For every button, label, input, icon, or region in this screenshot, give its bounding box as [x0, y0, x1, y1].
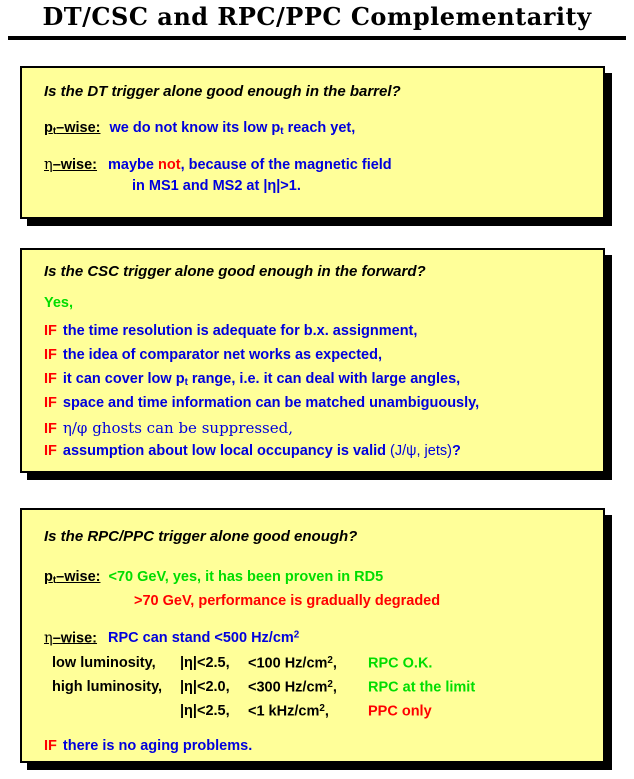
panel-rpc-heading: Is the RPC/PPC trigger alone good enough… — [44, 528, 357, 545]
panel-dt-heading: Is the DT trigger alone good enough in t… — [44, 83, 401, 100]
panel-csc-item-4-text: space and time information can be matche… — [63, 395, 479, 411]
if-label: IF — [44, 347, 57, 363]
panel-dt-eta-text-a: maybe — [108, 157, 158, 173]
row-status: RPC at the limit — [368, 679, 475, 695]
table-row: low luminosity,|η|<2.5,<100 Hz/cm2,RPC O… — [52, 655, 432, 671]
row-rate: <100 Hz/cm2, — [248, 655, 368, 671]
panel-csc-item-5: IFη/φ ghosts can be suppressed, — [44, 419, 293, 437]
eta-wise-label: η–wise: — [44, 630, 97, 646]
panel-csc-item-6: IFassumption about low local occupancy i… — [44, 443, 461, 459]
panel-rpc-eta-row: η–wise:RPC can stand <500 Hz/cm2 — [44, 630, 299, 646]
eta-wise-label: η–wise: — [44, 157, 97, 173]
panel-dt-eta-row-1: η–wise:maybe not, because of the magneti… — [44, 157, 392, 173]
panel-dt-trigger: Is the DT trigger alone good enough in t… — [20, 66, 605, 219]
table-row: high luminosity,|η|<2.0,<300 Hz/cm2,RPC … — [52, 679, 475, 695]
panel-csc-item-2-text: the idea of comparator net works as expe… — [63, 347, 382, 363]
panel-dt-eta-emphasis: not — [158, 157, 181, 173]
title-divider — [8, 36, 626, 40]
row-eta-cut: |η|<2.5, — [180, 655, 248, 671]
panel-csc-trigger: Is the CSC trigger alone good enough in … — [20, 248, 605, 473]
panel-dt-eta-row-2: in MS1 and MS2 at |η|>1. — [132, 178, 301, 194]
row-status: RPC O.K. — [368, 655, 432, 671]
table-row: |η|<2.5,<1 kHz/cm2,PPC only — [52, 703, 432, 719]
panel-dt-pt-text: we do not know its low pt reach yet, — [109, 120, 355, 136]
pt-wise-label: pt–wise: — [44, 120, 100, 136]
row-luminosity: high luminosity, — [52, 679, 180, 695]
row-rate: <1 kHz/cm2, — [248, 703, 368, 719]
panel-csc-item-5-text: η/φ ghosts can be suppressed, — [63, 419, 293, 437]
panel-rpc-pt-line-1: <70 GeV, yes, it has been proven in RD5 — [108, 569, 383, 585]
panel-rpc-eta-line: RPC can stand <500 Hz/cm2 — [108, 630, 299, 646]
if-label: IF — [44, 738, 57, 754]
if-label: IF — [44, 371, 57, 387]
panel-rpc-pt-line-2: >70 GeV, performance is gradually degrad… — [134, 593, 440, 609]
panel-rpc-pt-row-1: pt–wise:<70 GeV, yes, it has been proven… — [44, 569, 383, 586]
panel-rpc-if-text: there is no aging problems. — [63, 738, 252, 754]
panel-csc-item-6-paren: (J/ψ, jets) — [390, 443, 452, 459]
row-eta-cut: |η|<2.0, — [180, 679, 248, 695]
row-status: PPC only — [368, 703, 432, 719]
if-label: IF — [44, 421, 57, 437]
panel-csc-item-2: IFthe idea of comparator net works as ex… — [44, 347, 382, 363]
panel-csc-item-6-qmark: ? — [452, 443, 461, 459]
row-luminosity: low luminosity, — [52, 655, 180, 671]
panel-csc-yes: Yes, — [44, 295, 73, 311]
panel-dt-pt-row: pt–wise:we do not know its low pt reach … — [44, 120, 355, 137]
panel-rpc-ppc-trigger: Is the RPC/PPC trigger alone good enough… — [20, 508, 605, 763]
pt-wise-label: pt–wise: — [44, 569, 100, 585]
if-label: IF — [44, 395, 57, 411]
panel-csc-item-4: IFspace and time information can be matc… — [44, 395, 479, 411]
if-label: IF — [44, 323, 57, 339]
row-rate: <300 Hz/cm2, — [248, 679, 368, 695]
panel-csc-item-3-tail: range, i.e. it can deal with large angle… — [188, 371, 460, 387]
if-label: IF — [44, 443, 57, 459]
panel-csc-item-1: IFthe time resolution is adequate for b.… — [44, 323, 417, 339]
panel-rpc-if-row: IFthere is no aging problems. — [44, 738, 252, 754]
panel-csc-item-6-text: assumption about low local occupancy is … — [63, 443, 390, 459]
panel-csc-item-1-text: the time resolution is adequate for b.x.… — [63, 323, 418, 339]
panel-csc-item-3: IFit can cover low pt range, i.e. it can… — [44, 371, 460, 388]
panel-csc-item-3-text: it can cover low p — [63, 371, 185, 387]
row-eta-cut: |η|<2.5, — [180, 703, 248, 719]
page-title: DT/CSC and RPC/PPC Complementarity — [0, 2, 634, 31]
panel-dt-eta-text-c: , because of the magnetic field — [181, 157, 392, 173]
panel-csc-heading: Is the CSC trigger alone good enough in … — [44, 263, 426, 280]
